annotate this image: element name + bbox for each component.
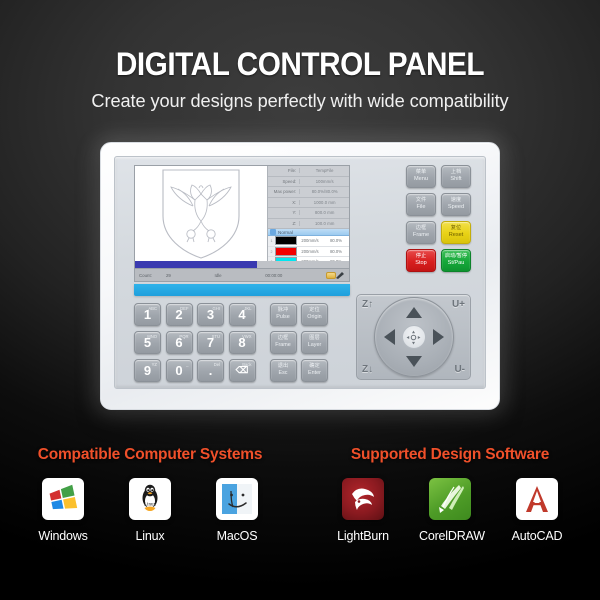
key-8[interactable]: VWX8 [229, 331, 256, 354]
key-5[interactable]: MNO5 [134, 331, 161, 354]
os-icon-row: Windows [0, 478, 300, 543]
param-value: 100.0 mm [300, 221, 349, 226]
table-row: File: TempFile [268, 166, 349, 177]
lcd-main: File: TempFile Speed: 100mm/s Max power:… [135, 166, 349, 261]
software-label: LightBurn [332, 529, 394, 543]
design-canvas[interactable] [135, 166, 268, 261]
keypad-row: MNO5 PQR6 STU7 VWX8 边框 Frame 图层 Layer [134, 331, 328, 354]
os-item-macos[interactable]: MacOS [206, 478, 268, 543]
control-panel-device: File: TempFile Speed: 100mm/s Max power:… [100, 142, 500, 410]
key-label: 9 [144, 363, 151, 378]
section-design-software: Supported Design Software LightBurn [300, 446, 600, 543]
table-row: Z: 100.0 mm [268, 219, 349, 230]
fkey-esc[interactable]: 退出 Esc [270, 359, 297, 382]
key-sup: GHI [213, 306, 220, 311]
count-label: Count: [139, 273, 152, 278]
fkey-pulse[interactable]: 脉冲 Pulse [270, 303, 297, 326]
section-title: Compatible Computer Systems [0, 446, 300, 464]
param-label: Z: [268, 221, 300, 226]
pen-icon [336, 271, 345, 279]
section-computer-systems: Compatible Computer Systems [0, 446, 300, 543]
elapsed-time: 00:00:00 [265, 273, 282, 278]
param-label: File: [268, 168, 300, 173]
software-icon-row: LightBurn CorelDRAW [300, 478, 600, 543]
button-en: Frame [413, 232, 429, 238]
list-item[interactable]: 2 200mm/s 80.0% [268, 247, 349, 258]
layer-power: 80.0% [323, 238, 349, 243]
arrow-right-icon[interactable] [433, 329, 444, 345]
software-label: AutoCAD [506, 529, 568, 543]
layer-color-swatch [275, 236, 297, 245]
windows-logo-icon [42, 478, 84, 520]
focus-icon[interactable] [402, 325, 426, 349]
fkey-en: Origin [307, 314, 321, 320]
software-item-autocad[interactable]: AutoCAD [506, 478, 568, 543]
os-label: Windows [32, 529, 94, 543]
speed-button[interactable]: 速度 Speed [441, 193, 471, 216]
lightburn-logo-icon [342, 478, 384, 520]
start-pause-button[interactable]: 启动/暂停 St/Pau [441, 249, 471, 272]
layer-speed: 200mm/s [297, 238, 323, 243]
os-label: Linux [119, 529, 181, 543]
button-en: Reset [449, 232, 464, 238]
u-minus-label[interactable]: U- [454, 364, 465, 375]
lcd-screen: File: TempFile Speed: 100mm/s Max power:… [134, 165, 350, 282]
key-sup: Del [214, 362, 220, 367]
function-button-pad[interactable]: 菜单 Menu 上档 Shift 文件 File 速度 Speed 边框 F [406, 165, 471, 272]
layer-icon [270, 229, 276, 235]
key-sup: STU [212, 334, 220, 339]
os-label: MacOS [206, 529, 268, 543]
reset-button[interactable]: 复位 Reset [441, 221, 471, 244]
file-button[interactable]: 文件 File [406, 193, 436, 216]
key-label: ⌫ [236, 365, 249, 376]
param-label: X: [268, 200, 300, 205]
key-0[interactable]: _0 [166, 359, 193, 382]
param-value: 800.0 mm [300, 210, 349, 215]
param-label: Y: [268, 210, 300, 215]
numeric-keypad[interactable]: ABC1 DEF2 GHI3 JKL4 脉冲 Pulse 定位 Origin [134, 303, 328, 387]
fkey-en: Frame [275, 342, 291, 348]
key-3[interactable]: GHI3 [197, 303, 224, 326]
layer-speed: 200mm/s [297, 249, 323, 254]
button-en: File [416, 204, 425, 210]
progress-bar [135, 261, 349, 268]
key-4[interactable]: JKL4 [229, 303, 256, 326]
lcd-info-area: File: TempFile Speed: 100mm/s Max power:… [268, 166, 349, 261]
key-7[interactable]: STU7 [197, 331, 224, 354]
param-label: Speed: [268, 179, 300, 184]
fkey-frame[interactable]: 边框 Frame [270, 331, 297, 354]
table-row: Speed: 100mm/s [268, 177, 349, 188]
key-label: . [209, 363, 213, 378]
button-en: St/Pau [448, 260, 465, 266]
frame-button[interactable]: 边框 Frame [406, 221, 436, 244]
z-up-label[interactable]: Z↑ [362, 299, 373, 310]
arrow-up-icon[interactable] [406, 307, 422, 318]
key-1[interactable]: ABC1 [134, 303, 161, 326]
linux-tux-icon: Linux [129, 478, 171, 520]
key-6[interactable]: PQR6 [166, 331, 193, 354]
autocad-logo-icon [516, 478, 558, 520]
table-row: Y: 800.0 mm [268, 208, 349, 219]
key-sup: DEF [180, 306, 188, 311]
key-9[interactable]: YZ9 [134, 359, 161, 382]
fkey-en: Enter [308, 370, 321, 376]
software-item-coreldraw[interactable]: CorelDRAW [419, 478, 481, 543]
key-label: 0 [175, 363, 182, 378]
button-en: Stop [415, 260, 427, 266]
key-dot[interactable]: Del. [197, 359, 224, 382]
header: DIGITAL CONTROL PANEL Create your design… [0, 0, 600, 112]
progress-fill [135, 261, 257, 268]
key-sup: YZ [152, 362, 157, 367]
param-value: TempFile [300, 168, 349, 173]
param-value: 1000.0 mm [300, 200, 349, 205]
key-sup: _ [186, 362, 188, 367]
keypad-row: ABC1 DEF2 GHI3 JKL4 脉冲 Pulse 定位 Origin [134, 303, 328, 326]
list-item[interactable]: 1 200mm/s 80.0% [268, 236, 349, 247]
fkey-en: Esc [279, 370, 288, 376]
menu-button[interactable]: 菜单 Menu [406, 165, 436, 188]
parameter-table: File: TempFile Speed: 100mm/s Max power:… [268, 166, 349, 229]
page-title: DIGITAL CONTROL PANEL [21, 48, 579, 80]
button-en: Speed [448, 204, 464, 210]
fkey-en: Layer [308, 342, 322, 348]
macos-finder-icon [216, 478, 258, 520]
eagle-shield-artwork [153, 166, 249, 261]
os-item-linux[interactable]: Linux Linux [119, 478, 181, 543]
stop-button[interactable]: 停止 Stop [406, 249, 436, 272]
key-sup: PQR [179, 334, 188, 339]
param-label: Max power: [268, 189, 300, 194]
fkey-enter[interactable]: 确定 Enter [301, 359, 328, 382]
key-sup: ABC [148, 306, 157, 311]
layer-index: 2 [268, 247, 275, 257]
layer-index: 1 [268, 236, 275, 246]
fkey-en: Pulse [276, 314, 290, 320]
section-title: Supported Design Software [300, 446, 600, 464]
fkey-layer[interactable]: 图层 Layer [301, 331, 328, 354]
key-2[interactable]: DEF2 [166, 303, 193, 326]
key-backspace[interactable]: Back⌫ [229, 359, 256, 382]
arrow-down-icon[interactable] [406, 356, 422, 367]
z-down-label[interactable]: Z↓ [362, 364, 373, 375]
shift-button[interactable]: 上档 Shift [441, 165, 471, 188]
page-subtitle: Create your designs perfectly with wide … [5, 90, 596, 112]
machine-state: Idle [214, 273, 221, 278]
key-sup: JKL [244, 306, 251, 311]
layer-color-swatch [275, 247, 297, 256]
status-bar: Count: 29 Idle 00:00:00 [135, 268, 349, 281]
direction-pad[interactable]: Z↑ Z↓ U+ U- [356, 294, 471, 380]
coreldraw-logo-icon [429, 478, 471, 520]
table-row: Max power: 80.0%/80.0% [268, 187, 349, 198]
accent-band [134, 284, 350, 296]
layer-list-header: Normal [268, 229, 349, 236]
layer-header-label: Normal [278, 230, 293, 235]
u-plus-label[interactable]: U+ [452, 299, 465, 310]
button-en: Menu [414, 176, 428, 182]
table-row: X: 1000.0 mm [268, 198, 349, 209]
param-value: 100mm/s [300, 179, 349, 184]
key-sup: VWX [242, 334, 252, 339]
key-sup: Back [242, 362, 251, 367]
compatibility-sections: Compatible Computer Systems [0, 446, 600, 543]
layer-power: 80.0% [323, 249, 349, 254]
svg-text:Linux: Linux [144, 503, 156, 508]
key-sup: MNO [147, 334, 157, 339]
usb-status-icon [326, 272, 336, 279]
fkey-origin[interactable]: 定位 Origin [301, 303, 328, 326]
os-item-windows[interactable]: Windows [32, 478, 94, 543]
arrow-left-icon[interactable] [384, 329, 395, 345]
count-value: 29 [166, 273, 171, 278]
device-face: File: TempFile Speed: 100mm/s Max power:… [114, 156, 486, 389]
button-en: Shift [450, 176, 461, 182]
param-value: 80.0%/80.0% [300, 189, 349, 194]
software-item-lightburn[interactable]: LightBurn [332, 478, 394, 543]
keypad-row: YZ9 _0 Del. Back⌫ 退出 Esc 确定 Enter [134, 359, 328, 382]
dpad-ring[interactable] [374, 297, 454, 377]
software-label: CorelDRAW [419, 529, 481, 543]
promo-banner: DIGITAL CONTROL PANEL Create your design… [0, 0, 600, 600]
